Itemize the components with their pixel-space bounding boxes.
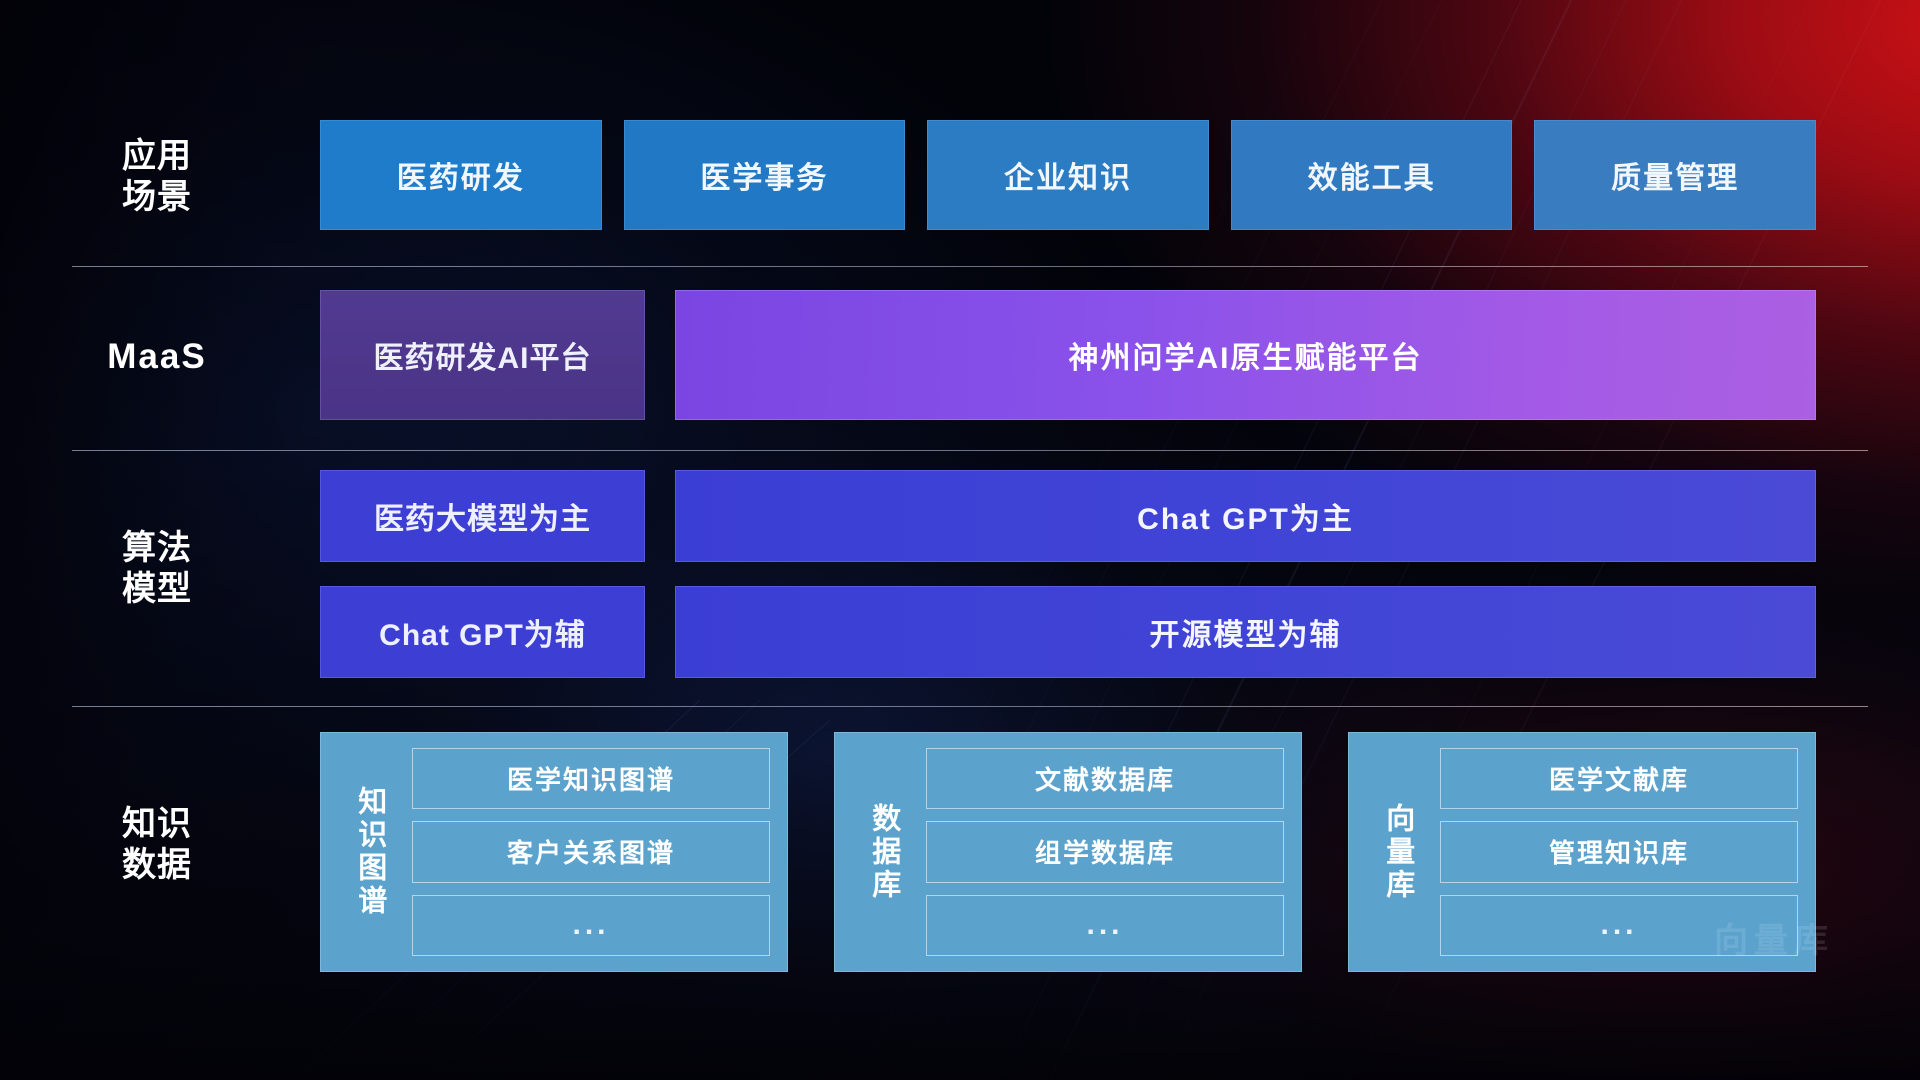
row-knowledge: 知识 数据 知识图谱 医学知识图谱 客户关系图谱 ... 数据库 文献数据库 xyxy=(72,732,1868,972)
knowledge-panel-list: 知识图谱 医学知识图谱 客户关系图谱 ... 数据库 文献数据库 组学数据库 .… xyxy=(320,732,1816,972)
knowledge-item-management-kb[interactable]: 管理知识库 xyxy=(1440,821,1798,882)
knowledge-item-omics-db[interactable]: 组学数据库 xyxy=(926,821,1284,882)
row-label-maas-text: MaaS xyxy=(72,336,242,379)
row-label-application-line1: 应用 xyxy=(72,136,242,177)
app-card-enterprise-knowledge[interactable]: 企业知识 xyxy=(927,120,1209,230)
algorithm-row-primary: 医药大模型为主 Chat GPT为主 xyxy=(320,470,1816,562)
divider-maas-algorithm xyxy=(72,450,1868,451)
app-card-efficiency-tools[interactable]: 效能工具 xyxy=(1231,120,1513,230)
app-card-label: 医药研发 xyxy=(397,153,525,197)
app-card-drug-rd[interactable]: 医药研发 xyxy=(320,120,602,230)
knowledge-item-customer-kg[interactable]: 客户关系图谱 xyxy=(412,821,770,882)
algo-card-label: 开源模型为辅 xyxy=(1150,610,1342,654)
row-label-maas: MaaS xyxy=(72,336,242,379)
row-label-knowledge-line2: 数据 xyxy=(72,845,242,886)
knowledge-item-list: 医学文献库 管理知识库 ... xyxy=(1428,748,1798,956)
algo-card-chatgpt-secondary[interactable]: Chat GPT为辅 xyxy=(320,586,645,678)
divider-application-maas xyxy=(72,266,1868,267)
algo-card-drug-llm-primary[interactable]: 医药大模型为主 xyxy=(320,470,645,562)
knowledge-item-more[interactable]: ... xyxy=(412,895,770,956)
row-label-application: 应用 场景 xyxy=(72,136,242,219)
maas-card-label: 医药研发AI平台 xyxy=(374,333,592,377)
slide-canvas: 应用 场景 医药研发 医学事务 企业知识 效能工具 质量管理 MaaS 医药研发… xyxy=(0,0,1920,1080)
app-card-label: 质量管理 xyxy=(1611,153,1739,197)
algorithm-card-list: 医药大模型为主 Chat GPT为主 Chat GPT为辅 开源模型为辅 xyxy=(320,470,1816,678)
algo-card-label: Chat GPT为辅 xyxy=(379,610,586,654)
knowledge-item-more[interactable]: ... xyxy=(926,895,1284,956)
architecture-diagram: 应用 场景 医药研发 医学事务 企业知识 效能工具 质量管理 MaaS 医药研发… xyxy=(0,0,1920,1080)
row-label-algorithm-line2: 模型 xyxy=(72,569,242,610)
divider-algorithm-knowledge xyxy=(72,706,1868,707)
knowledge-panel-side-label: 知识图谱 xyxy=(338,748,400,956)
app-card-label: 企业知识 xyxy=(1004,153,1132,197)
row-label-application-line2: 场景 xyxy=(72,177,242,218)
knowledge-panel-knowledge-graph[interactable]: 知识图谱 医学知识图谱 客户关系图谱 ... xyxy=(320,732,788,972)
maas-card-label: 神州问学AI原生赋能平台 xyxy=(1069,333,1423,377)
knowledge-item-literature-db[interactable]: 文献数据库 xyxy=(926,748,1284,809)
maas-card-drug-ai-platform[interactable]: 医药研发AI平台 xyxy=(320,290,645,420)
row-label-knowledge-line1: 知识 xyxy=(72,804,242,845)
knowledge-panel-database[interactable]: 数据库 文献数据库 组学数据库 ... xyxy=(834,732,1302,972)
application-card-list: 医药研发 医学事务 企业知识 效能工具 质量管理 xyxy=(320,120,1816,230)
row-algorithm: 算法 模型 医药大模型为主 Chat GPT为主 Chat GPT为辅 开源模型… xyxy=(72,470,1868,678)
algorithm-row-secondary: Chat GPT为辅 开源模型为辅 xyxy=(320,586,1816,678)
app-card-quality-management[interactable]: 质量管理 xyxy=(1534,120,1816,230)
row-label-algorithm: 算法 模型 xyxy=(72,528,242,611)
knowledge-item-medical-literature[interactable]: 医学文献库 xyxy=(1440,748,1798,809)
knowledge-item-list: 文献数据库 组学数据库 ... xyxy=(914,748,1284,956)
knowledge-item-more[interactable]: ... xyxy=(1440,895,1798,956)
knowledge-panel-side-label: 数据库 xyxy=(852,748,914,956)
app-card-label: 效能工具 xyxy=(1308,153,1436,197)
row-application: 应用 场景 医药研发 医学事务 企业知识 效能工具 质量管理 xyxy=(72,120,1868,230)
maas-card-shenzhou-wenxue-platform[interactable]: 神州问学AI原生赋能平台 xyxy=(675,290,1816,420)
knowledge-panel-side-label: 向量库 xyxy=(1366,748,1428,956)
knowledge-item-medical-kg[interactable]: 医学知识图谱 xyxy=(412,748,770,809)
maas-card-list: 医药研发AI平台 神州问学AI原生赋能平台 xyxy=(320,290,1816,420)
row-label-knowledge: 知识 数据 xyxy=(72,804,242,887)
row-label-algorithm-line1: 算法 xyxy=(72,528,242,569)
knowledge-item-list: 医学知识图谱 客户关系图谱 ... xyxy=(400,748,770,956)
algo-card-label: Chat GPT为主 xyxy=(1137,494,1354,538)
app-card-label: 医学事务 xyxy=(700,153,828,197)
algo-card-chatgpt-primary[interactable]: Chat GPT为主 xyxy=(675,470,1816,562)
app-card-medical-affairs[interactable]: 医学事务 xyxy=(624,120,906,230)
algo-card-opensource-secondary[interactable]: 开源模型为辅 xyxy=(675,586,1816,678)
knowledge-panel-vector-store[interactable]: 向量库 医学文献库 管理知识库 ... xyxy=(1348,732,1816,972)
algo-card-label: 医药大模型为主 xyxy=(374,494,591,538)
row-maas: MaaS 医药研发AI平台 神州问学AI原生赋能平台 xyxy=(72,290,1868,420)
